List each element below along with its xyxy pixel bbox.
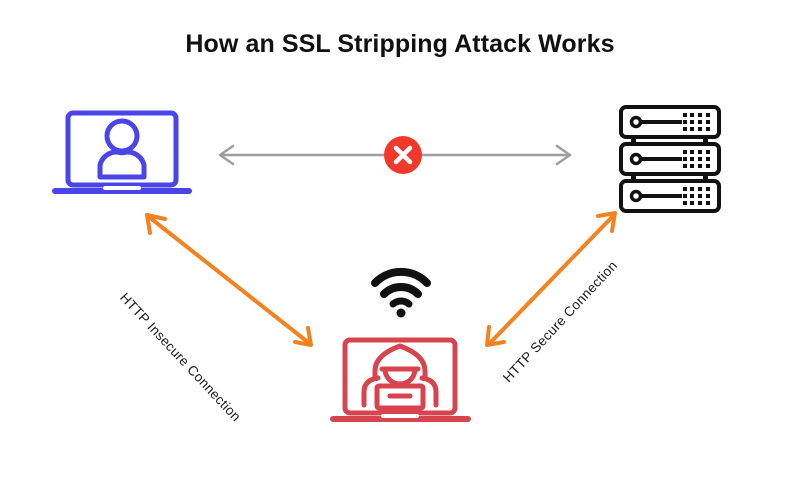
server-led-icon [632, 192, 641, 201]
http-insecure-connection-arrow [147, 215, 311, 345]
server-unit-1 [621, 107, 719, 145]
server-led-icon [632, 118, 641, 127]
blocked-direct-connection [220, 136, 570, 174]
server-dot-grid [683, 113, 710, 131]
server-led-icon [632, 155, 641, 164]
server-dot-grid [683, 187, 710, 205]
wifi-arc-inner [393, 301, 409, 304]
client-laptop-notch [103, 186, 141, 190]
wifi-arc-middle [384, 287, 418, 294]
laptop-user-icon [52, 113, 192, 194]
wifi-dot [397, 309, 406, 318]
server-unit-2 [621, 144, 719, 182]
user-head-icon [107, 121, 137, 151]
server-dot-grid [683, 150, 710, 168]
diagram-graphics [0, 0, 800, 480]
wifi-arc-outer [375, 272, 427, 283]
attacker-laptop-notch [381, 414, 419, 418]
server-stack-icon [621, 107, 719, 211]
server-unit-3 [621, 181, 719, 211]
hacker-hood-icon [375, 346, 425, 381]
user-body-icon [100, 152, 144, 177]
diagram-canvas: How an SSL Stripping Attack Works [0, 0, 800, 480]
wifi-signal-icon [375, 272, 427, 318]
laptop-hacker-icon [330, 340, 471, 422]
insecure-connection-line [149, 217, 309, 343]
